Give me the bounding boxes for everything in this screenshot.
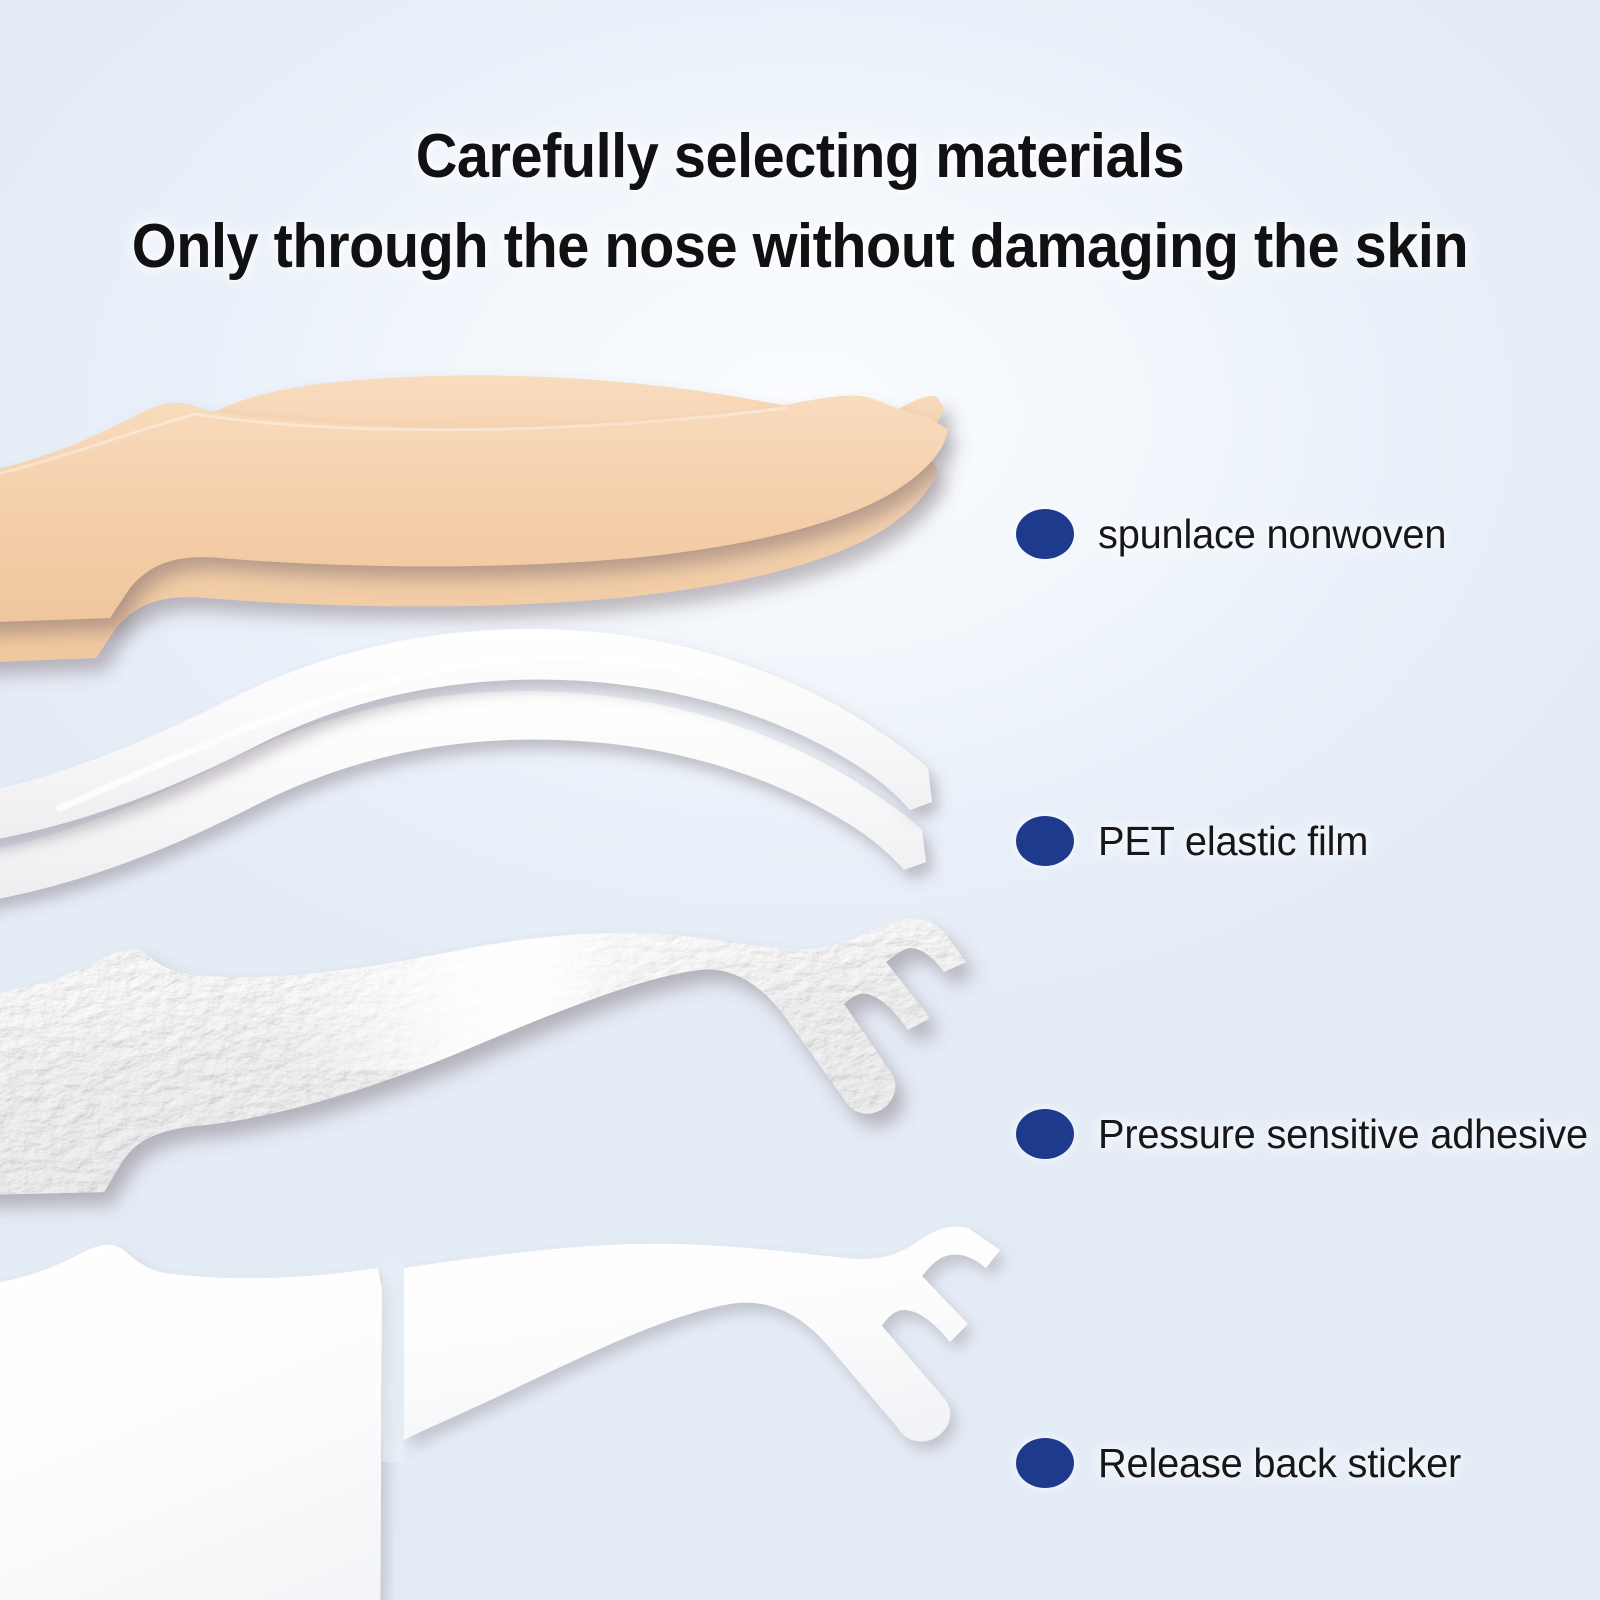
bullet-dot-icon xyxy=(1016,816,1074,866)
legend-label: Pressure sensitive adhesive xyxy=(1098,1111,1588,1158)
legend-item-pressure-sensitive-adhesive[interactable]: Pressure sensitive adhesive xyxy=(1016,1105,1600,1163)
legend-label: PET elastic film xyxy=(1098,818,1368,865)
legend-item-pet-elastic-film[interactable]: PET elastic film xyxy=(1016,812,1377,870)
legend-label: Release back sticker xyxy=(1098,1440,1461,1487)
legend-label: spunlace nonwoven xyxy=(1098,511,1446,558)
bullet-dot-icon xyxy=(1016,509,1074,559)
legend-item-release-back-sticker[interactable]: Release back sticker xyxy=(1016,1434,1472,1492)
legend-item-spunlace-nonwoven[interactable]: spunlace nonwoven xyxy=(1016,505,1457,563)
bullet-dot-icon xyxy=(1016,1109,1074,1159)
bullet-dot-icon xyxy=(1016,1438,1074,1488)
material-legend: spunlace nonwoven PET elastic film Press… xyxy=(0,0,1600,1600)
product-material-infographic: Carefully selecting materials Only throu… xyxy=(0,0,1600,1600)
